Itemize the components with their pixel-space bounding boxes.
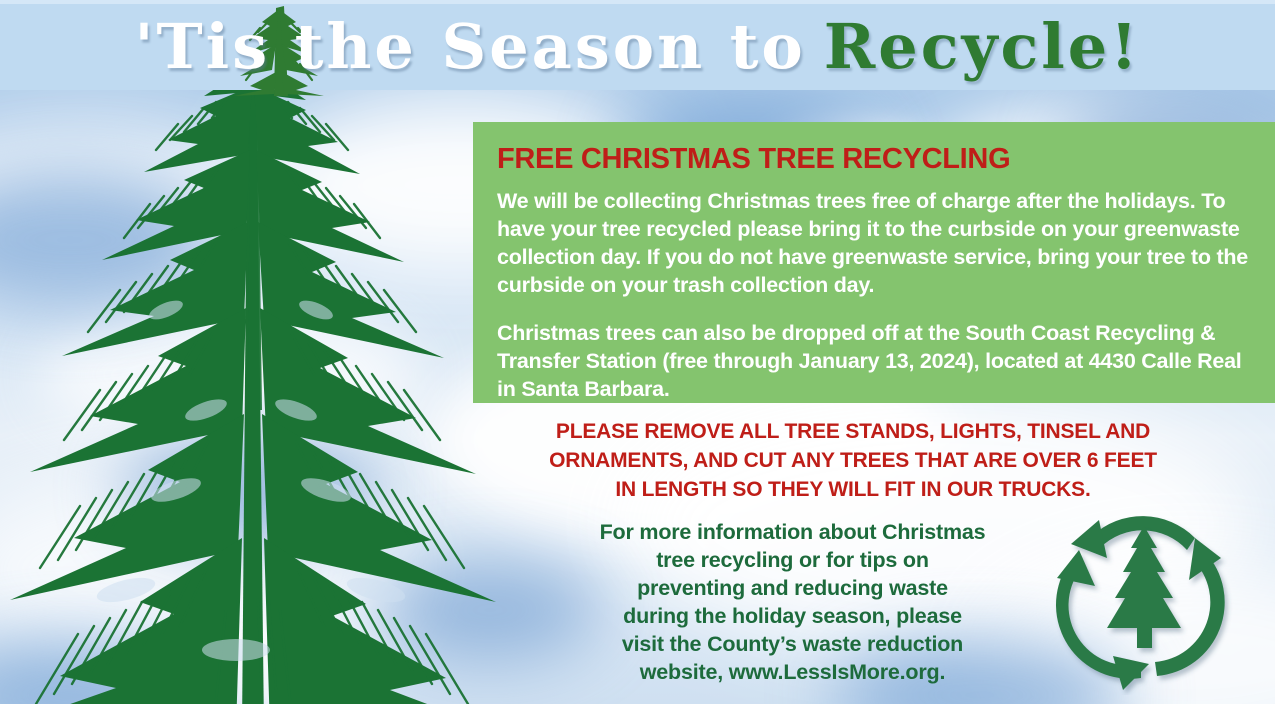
poster-title: 'Tis the Season to Recycle! xyxy=(0,4,1275,88)
info-panel-paragraph-1: We will be collecting Christmas trees fr… xyxy=(497,188,1249,300)
logo-pine-tree xyxy=(1107,526,1181,648)
removal-notice: PLEASE REMOVE ALL TREE STANDS, LIGHTS, T… xyxy=(473,418,1233,505)
blurb-line-3: preventing and reducing waste xyxy=(565,575,1020,603)
info-panel: FREE CHRISTMAS TREE RECYCLING We will be… xyxy=(473,122,1275,403)
info-panel-heading: FREE CHRISTMAS TREE RECYCLING xyxy=(497,144,1249,174)
blurb-line-6: website, www.LessIsMore.org. xyxy=(565,659,1020,687)
title-part-green: Recycle! xyxy=(824,10,1141,83)
cloud-shape xyxy=(40,300,420,450)
removal-notice-line-1: PLEASE REMOVE ALL TREE STANDS, LIGHTS, T… xyxy=(473,418,1233,447)
removal-notice-line-2: ORNAMENTS, AND CUT ANY TREES THAT ARE OV… xyxy=(473,447,1233,476)
more-information-blurb: For more information about Christmas tre… xyxy=(565,519,1020,687)
blurb-line-5: visit the County’s waste reduction xyxy=(565,631,1020,659)
poster-canvas: 'Tis the Season to Recycle! FREE CHRISTM… xyxy=(0,0,1275,704)
title-part-white: 'Tis the Season to xyxy=(135,10,806,83)
blurb-line-4: during the holiday season, please xyxy=(565,603,1020,631)
blurb-line-2: tree recycling or for tips on xyxy=(565,547,1020,575)
info-panel-paragraph-2: Christmas trees can also be dropped off … xyxy=(497,320,1249,404)
sky-blue-patch xyxy=(120,430,380,550)
recycle-tree-logo xyxy=(1045,500,1250,695)
blurb-line-1: For more information about Christmas xyxy=(565,519,1020,547)
